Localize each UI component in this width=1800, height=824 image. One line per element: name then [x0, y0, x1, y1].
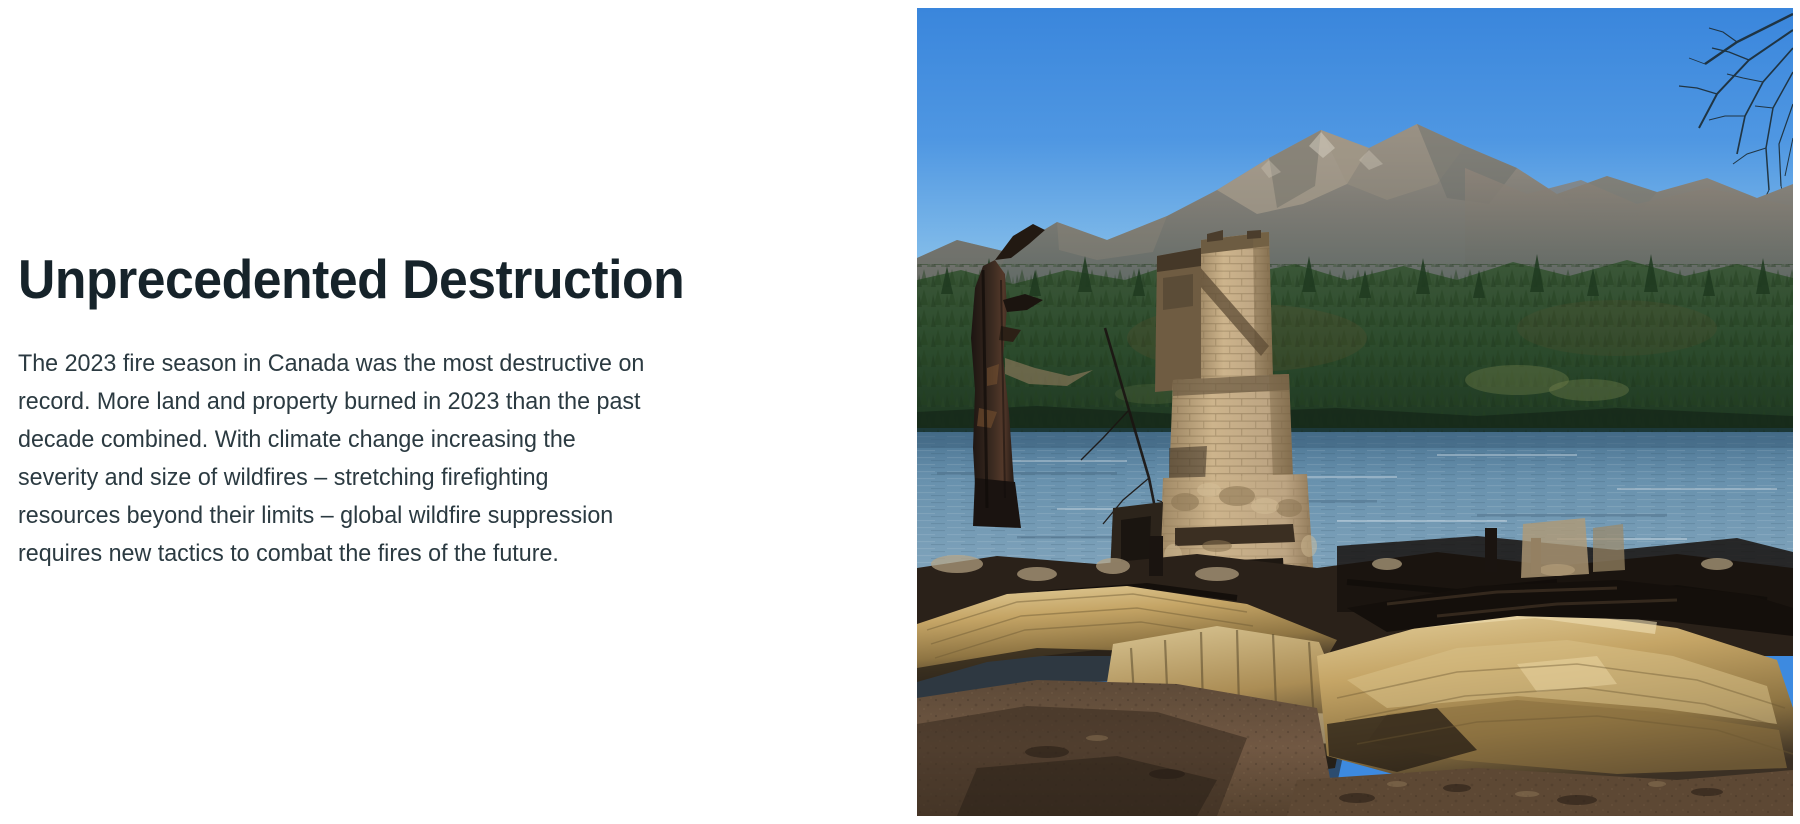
text-column: Unprecedented Destruction The 2023 fire …: [18, 0, 698, 824]
article-body-paragraph: The 2023 fire season in Canada was the m…: [18, 345, 645, 573]
photo-illustration: [917, 8, 1793, 816]
page-title: Unprecedented Destruction: [18, 251, 657, 309]
wildfire-destruction-photo: [917, 8, 1793, 816]
conifer-forest: [917, 254, 1793, 436]
article-hero-section: Unprecedented Destruction The 2023 fire …: [0, 0, 1800, 824]
